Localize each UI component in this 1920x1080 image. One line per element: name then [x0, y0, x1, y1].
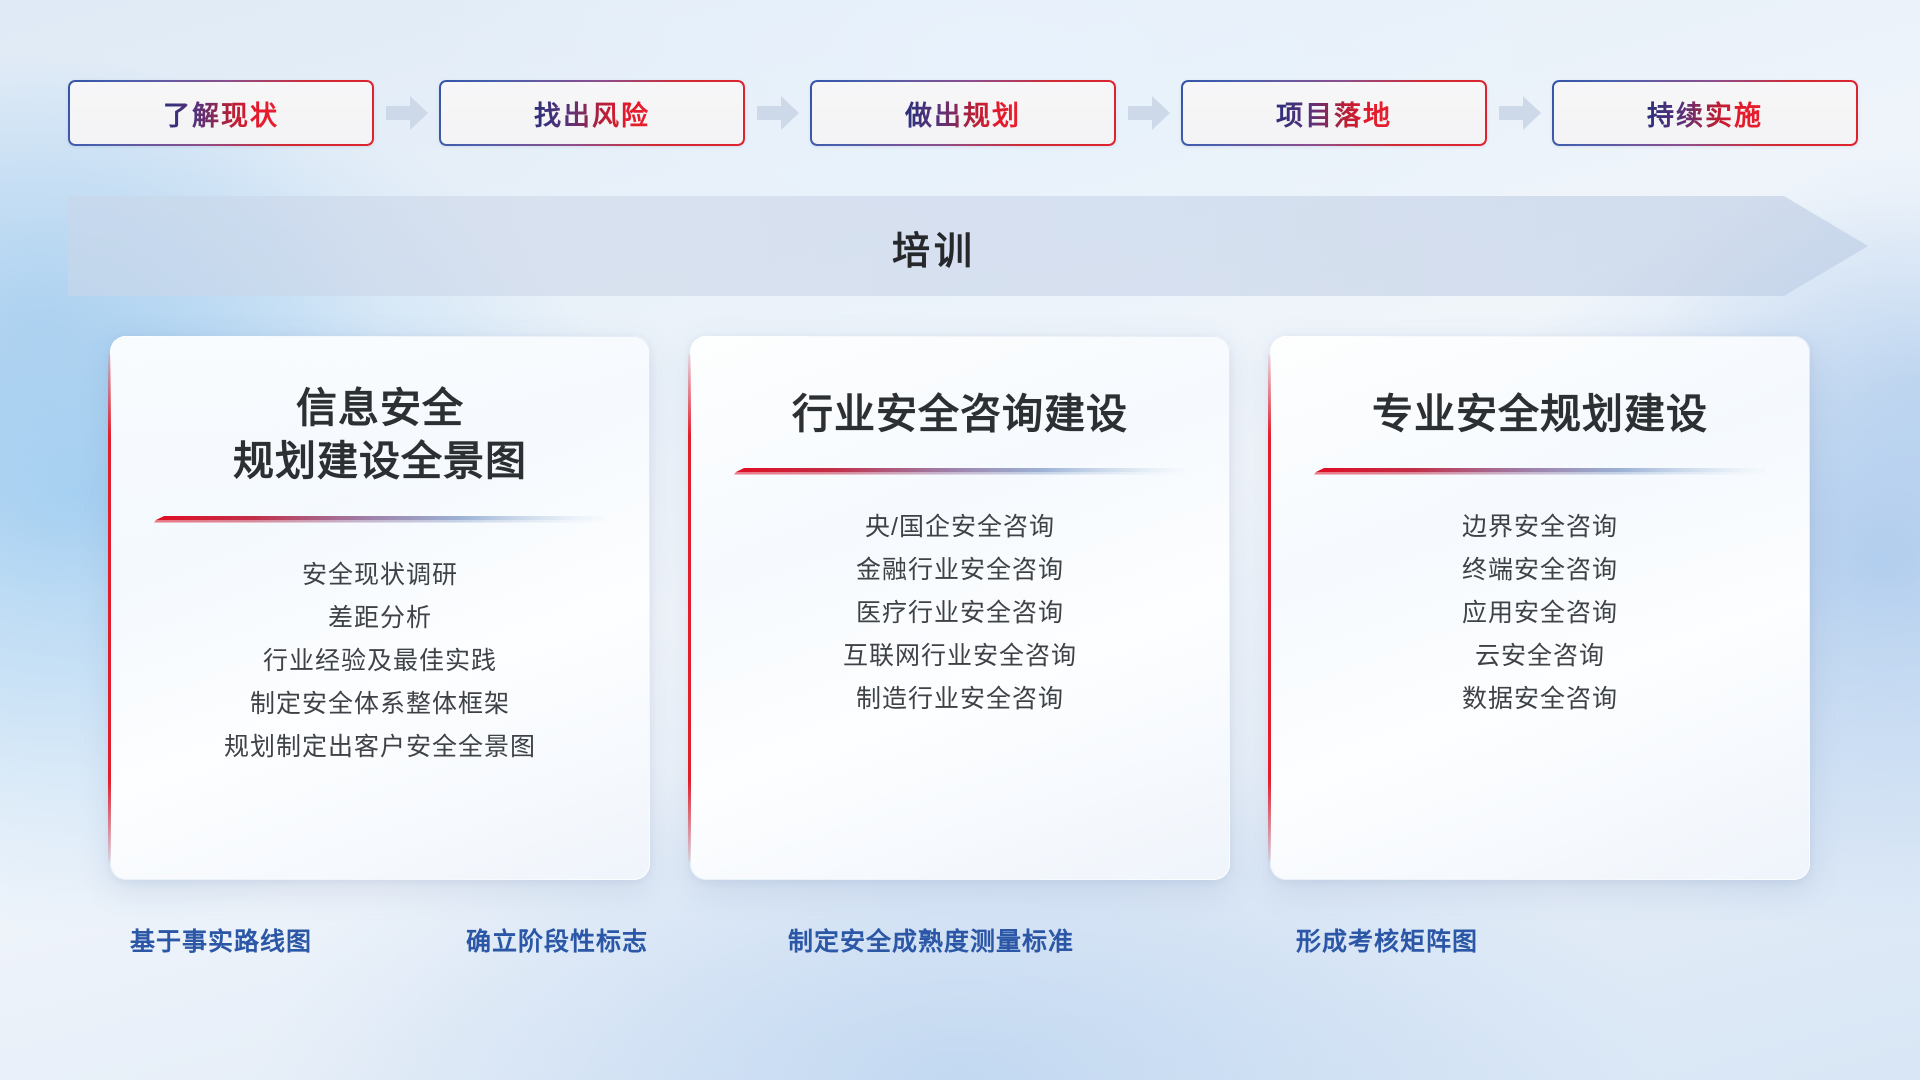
chevron-right-arrow-icon — [757, 96, 799, 130]
training-banner: 培训 — [68, 196, 1868, 296]
step-label: 了解现状 — [163, 94, 279, 133]
card-information-security-blueprint[interactable]: 信息安全 规划建设全景图 — [110, 336, 650, 880]
chevron-right-arrow-icon — [1128, 96, 1170, 130]
banner-title: 培训 — [68, 220, 1868, 275]
list-item: 规划制定出客户安全全景图 — [128, 726, 632, 769]
list-item: 行业经验及最佳实践 — [128, 640, 632, 683]
gradient-divider-icon — [734, 467, 1186, 476]
gradient-divider-icon — [1314, 467, 1766, 476]
caption-label: 基于事实路线图 — [130, 922, 312, 958]
step-box-4[interactable]: 项目落地 — [1181, 80, 1487, 146]
step-label: 做出规划 — [905, 94, 1021, 133]
step-box-1[interactable]: 了解现状 — [68, 80, 374, 146]
step-box-3[interactable]: 做出规划 — [810, 80, 1116, 146]
list-item: 制定安全体系整体框架 — [128, 683, 632, 726]
step-label: 项目落地 — [1276, 94, 1392, 133]
card-industry-security-consulting[interactable]: 行业安全咨询建设 — [690, 336, 1230, 880]
list-item: 央/国企安全咨询 — [708, 506, 1212, 549]
card-title: 信息安全 规划建设全景图 — [110, 336, 650, 489]
cards-row: 信息安全 规划建设全景图 — [0, 336, 1920, 896]
process-steps-row: 了解现状 找出风险 做出规划 项目落地 持续实施 — [68, 78, 1858, 148]
caption-label: 形成考核矩阵图 — [1296, 922, 1478, 958]
list-item: 制造行业安全咨询 — [708, 678, 1212, 721]
list-item: 医疗行业安全咨询 — [708, 592, 1212, 635]
step-label: 持续实施 — [1647, 94, 1763, 133]
list-item: 终端安全咨询 — [1288, 549, 1792, 592]
card-item-list: 央/国企安全咨询 金融行业安全咨询 医疗行业安全咨询 互联网行业安全咨询 制造行… — [690, 476, 1230, 721]
list-item: 互联网行业安全咨询 — [708, 635, 1212, 678]
gradient-divider-icon — [154, 515, 606, 524]
caption-label: 制定安全成熟度测量标准 — [788, 922, 1074, 958]
bottom-captions-row: 基于事实路线图 确立阶段性标志 制定安全成熟度测量标准 形成考核矩阵图 — [0, 922, 1920, 966]
chevron-right-arrow-icon — [386, 96, 428, 130]
infographic-canvas: 了解现状 找出风险 做出规划 项目落地 持续实施 — [0, 0, 1920, 1080]
card-title: 行业安全咨询建设 — [690, 336, 1230, 441]
card-title: 专业安全规划建设 — [1270, 336, 1810, 441]
list-item: 应用安全咨询 — [1288, 592, 1792, 635]
card-professional-security-planning[interactable]: 专业安全规划建设 — [1270, 336, 1810, 880]
card-item-list: 安全现状调研 差距分析 行业经验及最佳实践 制定安全体系整体框架 规划制定出客户… — [110, 524, 650, 769]
step-label: 找出风险 — [534, 94, 650, 133]
caption-label: 确立阶段性标志 — [466, 922, 648, 958]
card-item-list: 边界安全咨询 终端安全咨询 应用安全咨询 云安全咨询 数据安全咨询 — [1270, 476, 1810, 721]
chevron-right-arrow-icon — [1499, 96, 1541, 130]
list-item: 边界安全咨询 — [1288, 506, 1792, 549]
list-item: 云安全咨询 — [1288, 635, 1792, 678]
list-item: 金融行业安全咨询 — [708, 549, 1212, 592]
list-item: 数据安全咨询 — [1288, 678, 1792, 721]
list-item: 安全现状调研 — [128, 554, 632, 597]
step-box-5[interactable]: 持续实施 — [1552, 80, 1858, 146]
step-box-2[interactable]: 找出风险 — [439, 80, 745, 146]
list-item: 差距分析 — [128, 597, 632, 640]
